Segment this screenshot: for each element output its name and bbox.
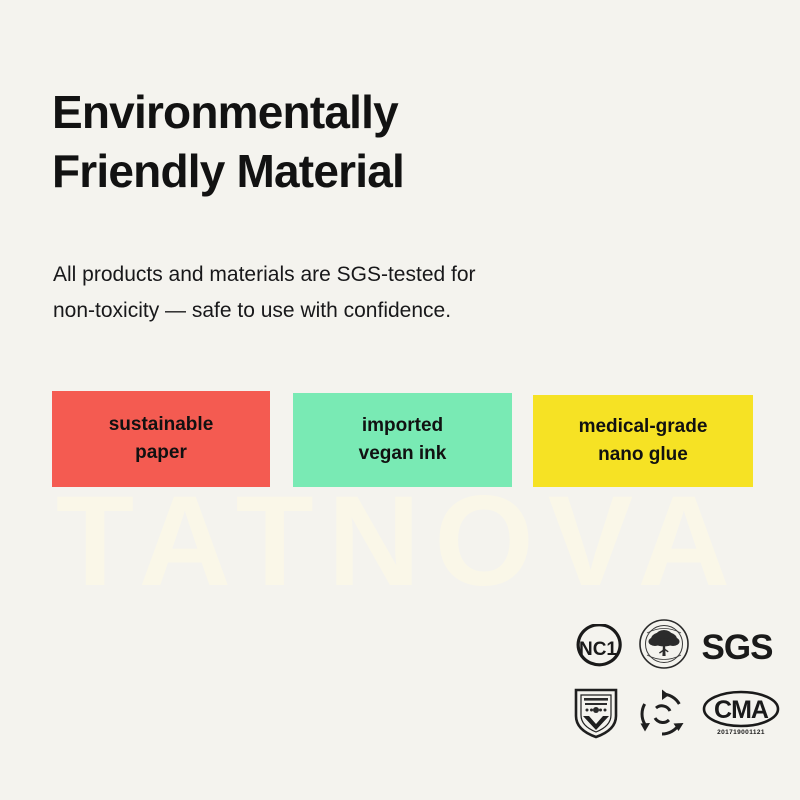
sgs-logo-text: SGS <box>702 630 773 665</box>
page-description-line-1: All products and materials are SGS-teste… <box>53 257 653 293</box>
material-badge-imported-vegan-ink: imported vegan ink <box>293 393 512 487</box>
certification-logo-row-top: NC1 <box>572 620 772 670</box>
material-badge-medical-grade-nano-glue: medical-grade nano glue <box>533 395 753 487</box>
svg-text:CMA: CMA <box>714 696 769 724</box>
page-description-line-2: non-toxicity — safe to use with confiden… <box>53 293 653 329</box>
certification-logo-row-bottom: CMA 201719001121 <box>572 684 772 740</box>
certification-logo-group: NC1 <box>572 620 772 740</box>
cma-certification-logo: CMA 201719001121 <box>702 686 780 740</box>
material-badge-line-2: vegan ink <box>359 440 447 468</box>
material-badge-line-2: nano glue <box>598 441 688 469</box>
forest-seal-certification-logo <box>638 618 690 670</box>
material-badge-list: sustainable paper imported vegan ink med… <box>52 391 756 487</box>
material-badge-line-1: medical-grade <box>579 413 708 441</box>
recycling-certification-logo <box>636 688 688 740</box>
material-badge-sustainable-paper: sustainable paper <box>52 391 270 487</box>
page-title-line-2: Friendly Material <box>52 142 672 201</box>
material-badge-line-1: imported <box>362 412 443 440</box>
nc1-certification-logo: NC1 <box>572 624 626 670</box>
poster-canvas: TATNOVA Environmentally Friendly Materia… <box>0 0 800 800</box>
shield-certification-logo <box>572 686 620 740</box>
page-title: Environmentally Friendly Material <box>52 83 672 201</box>
page-title-line-1: Environmentally <box>52 83 672 142</box>
page-description: All products and materials are SGS-teste… <box>53 257 653 329</box>
svg-text:NC1: NC1 <box>579 639 617 660</box>
cma-certificate-number: 201719001121 <box>717 729 765 736</box>
brand-watermark: TATNOVA <box>0 478 800 606</box>
material-badge-line-1: sustainable <box>109 411 214 439</box>
sgs-certification-logo: SGS <box>702 624 772 670</box>
material-badge-line-2: paper <box>135 439 187 467</box>
